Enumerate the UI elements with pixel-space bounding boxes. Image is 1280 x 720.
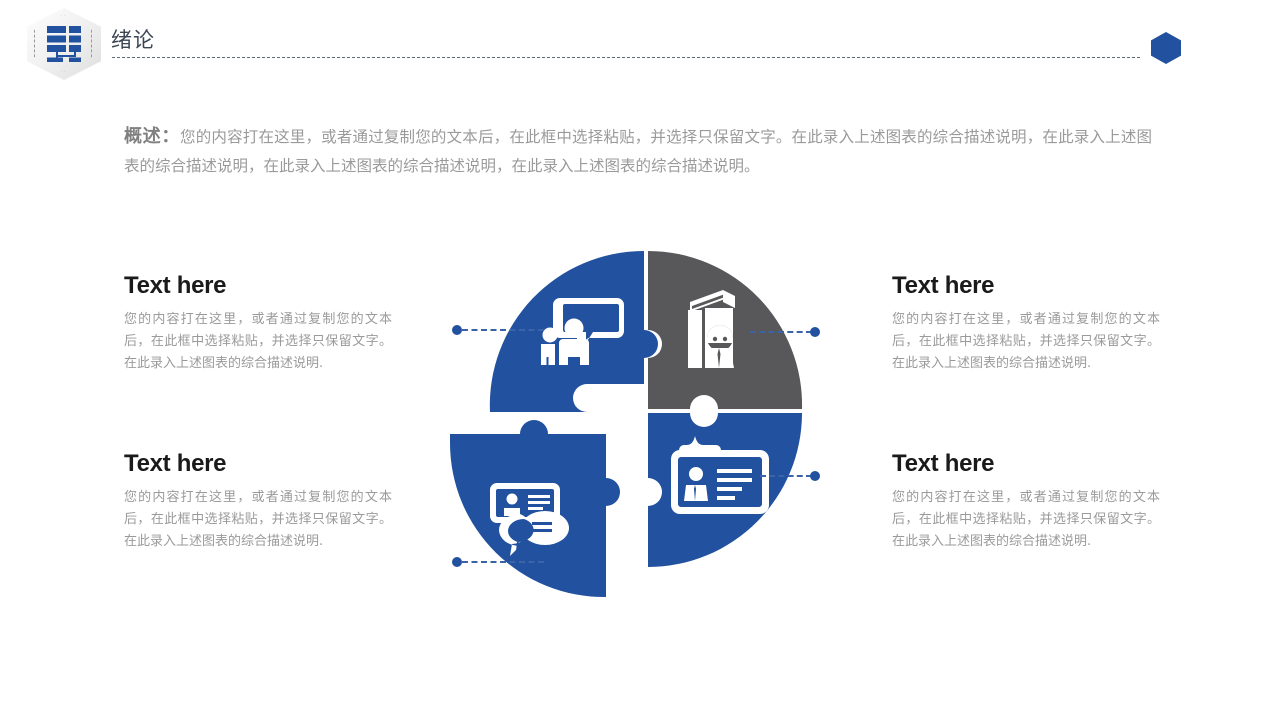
- header-badge: [27, 8, 101, 80]
- overview-lead-label: 概述：: [124, 126, 180, 147]
- connector-top-left: [452, 325, 544, 335]
- connector-dashed-line: [462, 329, 544, 331]
- feature-heading: Text here: [892, 450, 1160, 478]
- feature-body: 您的内容打在这里，或者通过复制您的文本后，在此框中选择粘贴，并选择只保留文字。在…: [124, 309, 392, 375]
- feature-body: 您的内容打在这里，或者通过复制您的文本后，在此框中选择粘贴，并选择只保留文字。在…: [124, 487, 392, 553]
- connector-bottom-left: [452, 557, 544, 567]
- overview-text: 您的内容打在这里，或者通过复制您的文本后，在此框中选择粘贴，并选择只保留文字。在…: [124, 128, 1152, 175]
- connector-bottom-right: [760, 471, 820, 481]
- connector-dashed-line: [760, 475, 812, 477]
- connector-top-right: [750, 327, 820, 337]
- puzzle-circle-diagram: [440, 238, 840, 608]
- connector-dot-icon: [452, 557, 462, 567]
- puzzle-svg: [440, 238, 840, 608]
- slide-header: 绪论: [0, 0, 1280, 86]
- server-icon: [47, 26, 81, 62]
- connector-dashed-line: [462, 561, 544, 563]
- feature-heading: Text here: [124, 272, 392, 300]
- feature-body: 您的内容打在这里，或者通过复制您的文本后，在此框中选择粘贴，并选择只保留文字。在…: [892, 309, 1160, 375]
- feature-block-bottom-right: Text here 您的内容打在这里，或者通过复制您的文本后，在此框中选择粘贴，…: [892, 450, 1160, 553]
- feature-heading: Text here: [124, 450, 392, 478]
- feature-block-top-left: Text here 您的内容打在这里，或者通过复制您的文本后，在此框中选择粘贴，…: [124, 272, 392, 375]
- feature-body: 您的内容打在这里，或者通过复制您的文本后，在此框中选择粘贴，并选择只保留文字。在…: [892, 487, 1160, 553]
- connector-dot-icon: [452, 325, 462, 335]
- connector-dot-icon: [810, 327, 820, 337]
- feature-heading: Text here: [892, 272, 1160, 300]
- page-title: 绪论: [111, 24, 155, 54]
- connector-dot-icon: [810, 471, 820, 481]
- connector-dashed-line: [750, 331, 812, 333]
- header-dashed-rule: [112, 57, 1140, 58]
- feature-block-top-right: Text here 您的内容打在这里，或者通过复制您的文本后，在此框中选择粘贴，…: [892, 272, 1160, 375]
- feature-block-bottom-left: Text here 您的内容打在这里，或者通过复制您的文本后，在此框中选择粘贴，…: [124, 450, 392, 553]
- book-student-icon: [688, 290, 735, 368]
- hexagon-marker-icon: [1151, 32, 1181, 64]
- overview-paragraph: 概述：您的内容打在这里，或者通过复制您的文本后，在此框中选择粘贴，并选择只保留文…: [124, 122, 1152, 181]
